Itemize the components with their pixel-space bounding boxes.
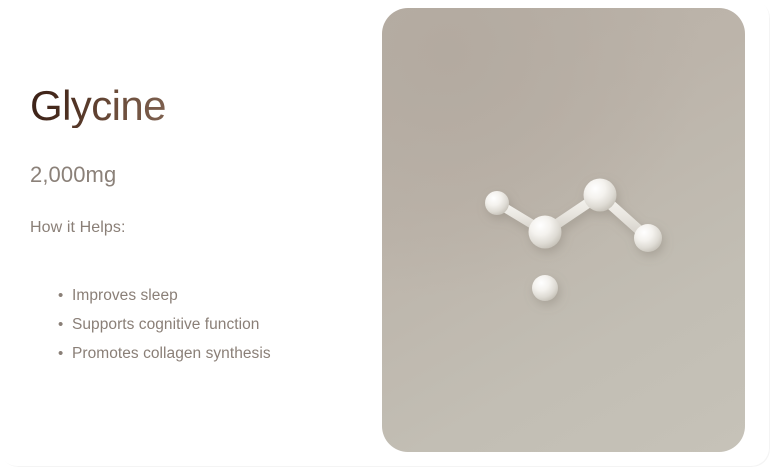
bullet-icon: • [58,310,63,339]
list-item: • Supports cognitive function [72,310,352,339]
bullet-icon: • [58,281,63,310]
list-item-label: Promotes collagen synthesis [72,345,271,362]
list-item: • Improves sleep [72,281,352,310]
atom-bottom [532,275,558,301]
dosage-amount: 2,000mg [30,162,116,188]
atom-center [529,216,562,249]
bullet-icon: • [58,339,63,368]
list-item-label: Supports cognitive function [72,316,259,333]
atom-upper-right [584,179,617,212]
supplement-ingredient-card: Glycine 2,000mg How it Helps: • Improves… [0,0,770,467]
list-item-label: Improves sleep [72,287,178,304]
list-item: • Promotes collagen synthesis [72,339,352,368]
glycine-molecule-icon [382,8,745,452]
atom-far-right [634,224,662,252]
molecule-image-panel [382,8,745,452]
benefits-list: • Improves sleep • Supports cognitive fu… [52,281,352,368]
ingredient-info-pane: Glycine 2,000mg How it Helps: • Improves… [30,0,360,467]
page-title: Glycine [30,84,166,128]
benefits-heading: How it Helps: [30,219,126,237]
atom-upper-left [485,191,509,215]
